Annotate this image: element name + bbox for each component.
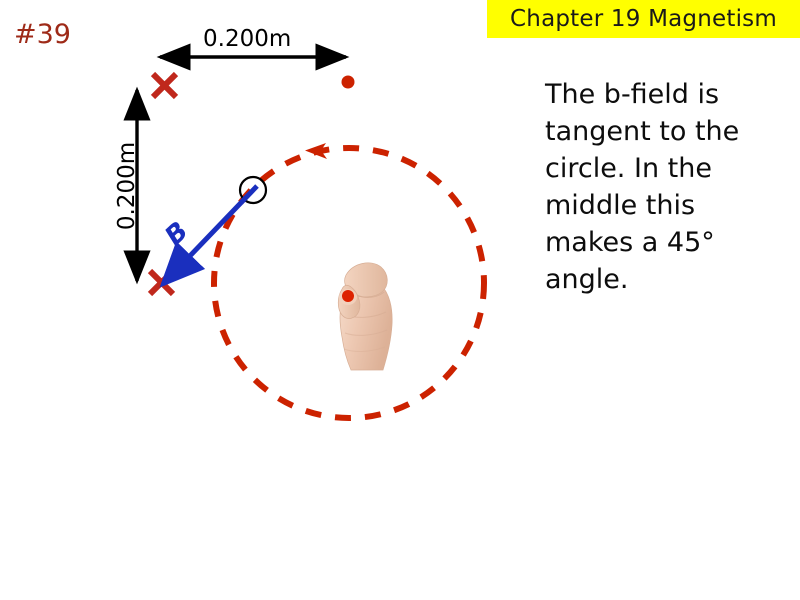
- slide-canvas: Chapter 19 Magnetism #39 The b-field is …: [0, 0, 800, 600]
- body-text-line: makes a 45°: [545, 224, 795, 261]
- current-into-page-marker-top: [153, 74, 176, 97]
- body-text-line: The b-field is: [545, 76, 795, 113]
- slide-title: Chapter 19 Magnetism: [510, 6, 777, 32]
- title-banner: Chapter 19 Magnetism: [487, 0, 800, 38]
- body-text-line: tangent to the: [545, 113, 795, 150]
- body-text-line: circle. In the: [545, 150, 795, 187]
- body-text-line: middle this: [545, 187, 795, 224]
- dimension-label-horizontal: 0.200m: [203, 26, 291, 52]
- magnetism-diagram: [0, 0, 520, 460]
- dimension-label-vertical: 0.200m: [114, 142, 140, 230]
- body-text-block: The b-field is tangent to the circle. In…: [545, 76, 795, 298]
- thumb-current-dot: [342, 290, 354, 302]
- body-text-line: angle.: [545, 261, 795, 298]
- right-hand-rule-hand: [329, 253, 403, 371]
- current-out-of-page-marker: [342, 76, 355, 89]
